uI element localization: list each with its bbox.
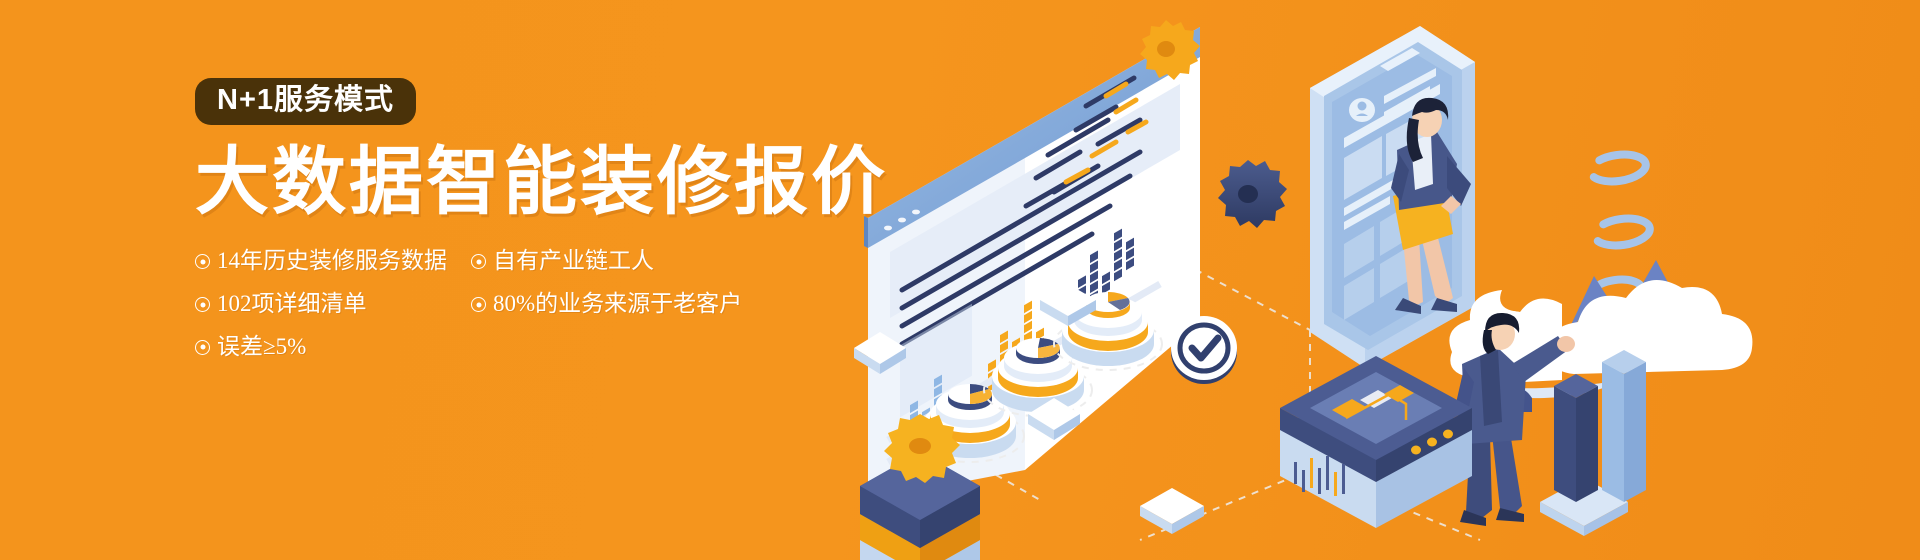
bullet-dot-icon: [471, 297, 486, 312]
service-mode-badge: N+1服务模式: [195, 78, 416, 125]
list-item: 102项详细清单: [195, 290, 445, 319]
list-item-label: 误差≥5%: [217, 333, 306, 362]
bullet-dot-icon: [195, 254, 210, 269]
bar-column-blue: [1602, 350, 1646, 502]
bullet-dot-icon: [195, 297, 210, 312]
list-item: 80%的业务来源于老客户: [471, 290, 742, 319]
isometric-big-data-illustration: [840, 0, 1920, 560]
list-item: 14年历史装修服务数据: [195, 247, 445, 276]
checkmark-badge-icon: [1171, 316, 1237, 384]
feature-row: 102项详细清单 80%的业务来源于老客户: [195, 290, 895, 319]
list-item: 误差≥5%: [195, 333, 445, 362]
list-item-label: 102项详细清单: [217, 290, 367, 319]
bullet-dot-icon: [471, 254, 486, 269]
bar-column-navy: [1554, 374, 1598, 502]
feature-list: 14年历史装修服务数据 自有产业链工人 102项详细清单 80%的业务来源于老客…: [195, 247, 895, 361]
copy-block: N+1服务模式 大数据智能装修报价 14年历史装修服务数据 自有产业链工人 10…: [195, 78, 895, 376]
feature-row: 14年历史装修服务数据 自有产业链工人: [195, 247, 895, 276]
list-item-label: 14年历史装修服务数据: [217, 247, 447, 276]
list-item-label: 自有产业链工人: [493, 247, 654, 276]
list-item: 自有产业链工人: [471, 247, 654, 276]
bullet-dot-icon: [195, 340, 210, 355]
list-item-label: 80%的业务来源于老客户: [493, 290, 742, 319]
promo-banner: N+1服务模式 大数据智能装修报价 14年历史装修服务数据 自有产业链工人 10…: [0, 0, 1920, 560]
server-box: [1280, 356, 1472, 528]
page-title: 大数据智能装修报价: [195, 143, 895, 221]
feature-row: 误差≥5%: [195, 333, 895, 362]
navy-gear-icon: [1218, 160, 1287, 228]
